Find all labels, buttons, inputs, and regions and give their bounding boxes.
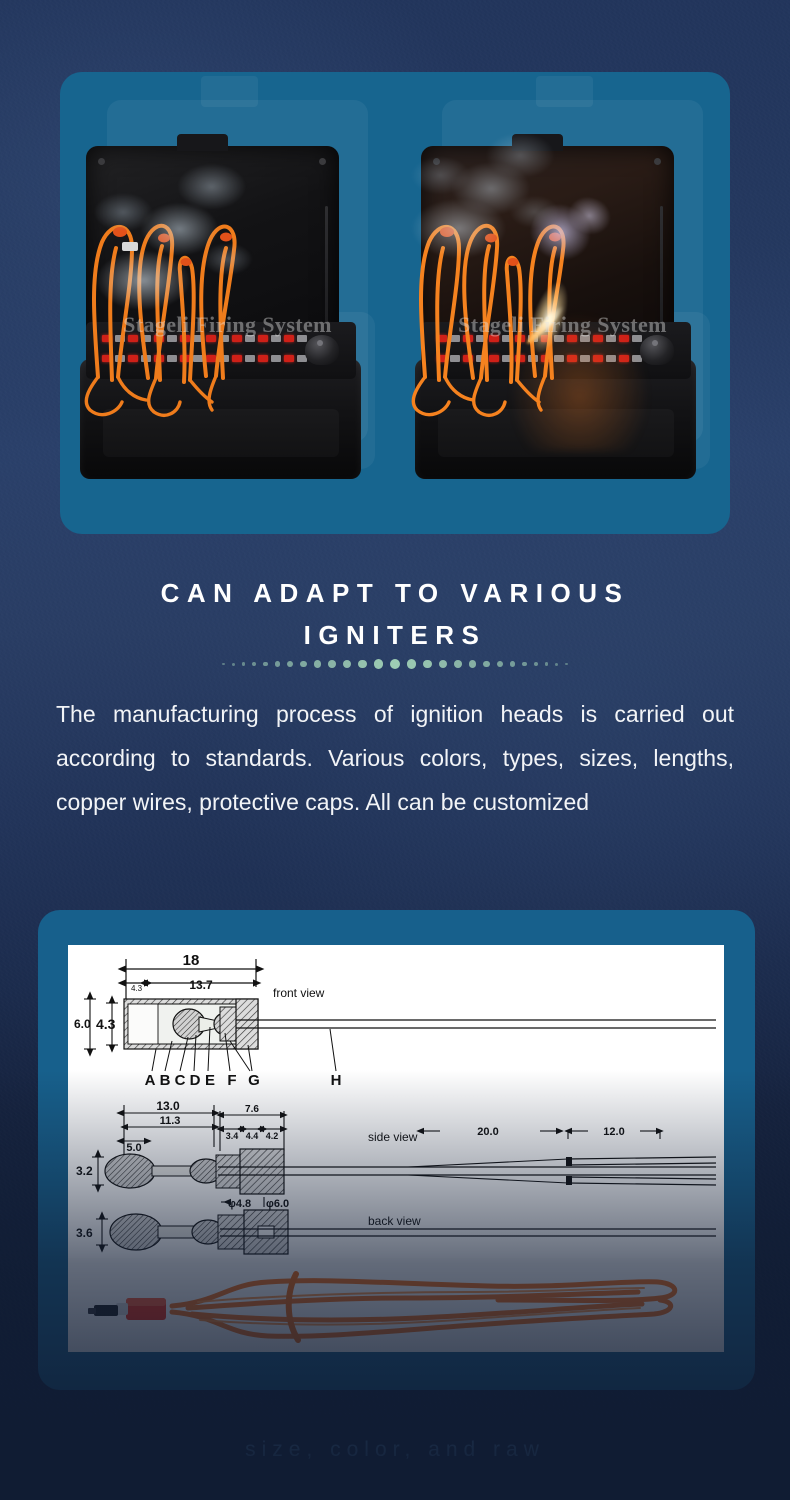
divider-dot: [275, 661, 280, 666]
dot-divider: [0, 655, 790, 673]
dim-side-diameter-2: φ6.0: [266, 1198, 289, 1210]
divider-dot: [439, 660, 447, 668]
product-photo-card: Stageli Firing System: [60, 72, 730, 534]
divider-dot: [242, 662, 246, 666]
igniter-wires: [395, 72, 730, 534]
dim-side-f: 4.4: [246, 1131, 259, 1141]
divider-dot: [300, 661, 307, 668]
callout-b: B: [160, 1072, 171, 1089]
divider-dot: [469, 660, 476, 667]
dim-lead-tip: 12.0: [603, 1126, 624, 1138]
dim-lead-length: 20.0: [477, 1126, 498, 1138]
dim-side-d: 7.6: [245, 1104, 259, 1115]
heading-line-2: IGNITERS: [0, 614, 790, 656]
label-front-view: front view: [273, 986, 325, 1000]
section-paragraph: The manufacturing process of ignition he…: [56, 692, 734, 824]
divider-dot: [314, 660, 321, 667]
divider-dot: [263, 662, 268, 667]
dim-side-c: 5.0: [126, 1142, 141, 1154]
divider-dot: [358, 660, 367, 669]
dim-back-height: 3.6: [76, 1226, 93, 1240]
section-heading: CAN ADAPT TO VARIOUS IGNITERS: [0, 572, 790, 656]
dim-front-inner: 13.7: [189, 978, 213, 992]
divider-dot: [534, 662, 538, 666]
divider-dot: [287, 661, 293, 667]
divider-dot: [510, 661, 515, 666]
dim-side-b: 11.3: [160, 1115, 181, 1127]
technical-drawing-sheet: 18 4.3 13.7 6.0 4.3: [68, 945, 724, 1352]
divider-dot: [232, 663, 235, 666]
dim-front-height-inner: 4.3: [96, 1016, 116, 1032]
technical-diagram-card: 18 4.3 13.7 6.0 4.3: [38, 910, 755, 1390]
bottom-caption: size, color, and raw: [0, 1438, 790, 1462]
label-back-view: back view: [368, 1214, 421, 1228]
dim-side-a: 13.0: [156, 1099, 180, 1113]
callout-a: A: [145, 1072, 156, 1089]
page-background: Stageli Firing System: [0, 0, 790, 1500]
divider-dot: [555, 663, 558, 666]
divider-dot: [545, 662, 549, 666]
product-photo-flame: Stageli Firing System: [395, 72, 730, 534]
igniter-cable-photo: [68, 1258, 724, 1352]
dim-front-overall: 18: [183, 952, 200, 969]
dim-front-height-outer: 6.0: [74, 1017, 91, 1031]
callout-c: C: [175, 1072, 186, 1089]
dim-front-small: 4.3: [131, 984, 143, 993]
divider-dot: [497, 661, 503, 667]
divider-dot: [483, 661, 490, 668]
divider-dot: [374, 659, 383, 668]
divider-dot: [423, 660, 432, 669]
callout-e: E: [205, 1072, 215, 1089]
divider-dot: [407, 659, 416, 668]
page-content: Stageli Firing System: [0, 0, 790, 1500]
divider-dot: [390, 659, 400, 669]
dim-side-diameter-1: φ4.8: [228, 1198, 251, 1210]
divider-dot: [343, 660, 351, 668]
dim-side-g: 4.2: [266, 1131, 279, 1141]
product-photo-smoke: Stageli Firing System: [60, 72, 395, 534]
callout-h: H: [331, 1072, 342, 1089]
callout-f: F: [227, 1072, 236, 1089]
divider-dot: [454, 660, 462, 668]
callout-g: G: [248, 1072, 260, 1089]
product-photo-row: Stageli Firing System: [60, 72, 730, 534]
igniter-technical-drawing: 18 4.3 13.7 6.0 4.3: [68, 945, 724, 1265]
heading-line-1: CAN ADAPT TO VARIOUS: [0, 572, 790, 614]
divider-dot: [252, 662, 256, 666]
label-side-view: side view: [368, 1130, 418, 1144]
dim-side-height: 3.2: [76, 1164, 93, 1178]
callout-d: D: [190, 1072, 201, 1089]
divider-dot: [328, 660, 336, 668]
divider-dot: [565, 663, 567, 665]
divider-dot: [522, 662, 527, 667]
dim-side-e: 3.4: [226, 1131, 239, 1141]
igniter-wires: [60, 72, 395, 534]
divider-dot: [222, 663, 224, 665]
